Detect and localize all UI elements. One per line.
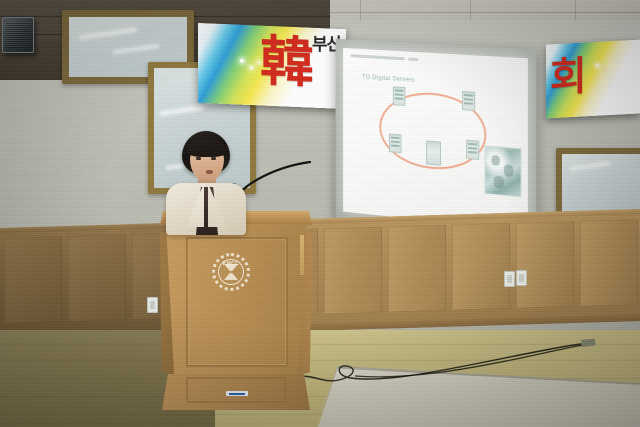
wall-wainscot: [0, 209, 640, 340]
ring-node-center: [426, 140, 441, 165]
projection-screen-frame: TO Digital Servers: [336, 39, 537, 241]
podium-side-trim: [300, 235, 304, 275]
ring-node-2: [462, 91, 475, 111]
presenter-mouth: [206, 170, 213, 174]
photo-scene: 韓 부산 회 TO Digital Servers: [0, 0, 640, 427]
presenter: [162, 131, 254, 235]
wall-speaker: [2, 17, 34, 53]
banner-char-han: 韓: [260, 34, 314, 90]
podium: KMCC: [160, 211, 312, 410]
slide-header-bar-2: [408, 58, 418, 62]
ring-node-3: [389, 133, 402, 153]
presenter-eye-right: [211, 157, 216, 160]
ring-node-4: [466, 140, 479, 160]
wall-outlet-left: [147, 297, 158, 313]
wall-outlet-right-1: [504, 271, 515, 287]
floor-cable: [295, 332, 640, 392]
banner-right: 회: [546, 40, 640, 119]
podium-label-sticker: [226, 391, 248, 396]
slide-photo-inset: [484, 145, 521, 197]
projection-screen-surface: TO Digital Servers: [343, 48, 528, 231]
podium-base-inset: [186, 377, 286, 403]
podium-emblem: KMCC: [212, 253, 250, 291]
podium-emblem-text: KMCC: [212, 261, 250, 267]
banner-char-hoe: 회: [550, 56, 587, 98]
presenter-eye-left: [196, 157, 201, 160]
slide-title: TO Digital Servers: [362, 74, 415, 83]
slide-ring-diagram: [379, 89, 486, 173]
slide-header-bar: [351, 54, 405, 60]
wall-outlet-right-2: [516, 270, 527, 286]
ring-node-1: [393, 86, 406, 106]
presenter-hair-front: [186, 139, 228, 157]
